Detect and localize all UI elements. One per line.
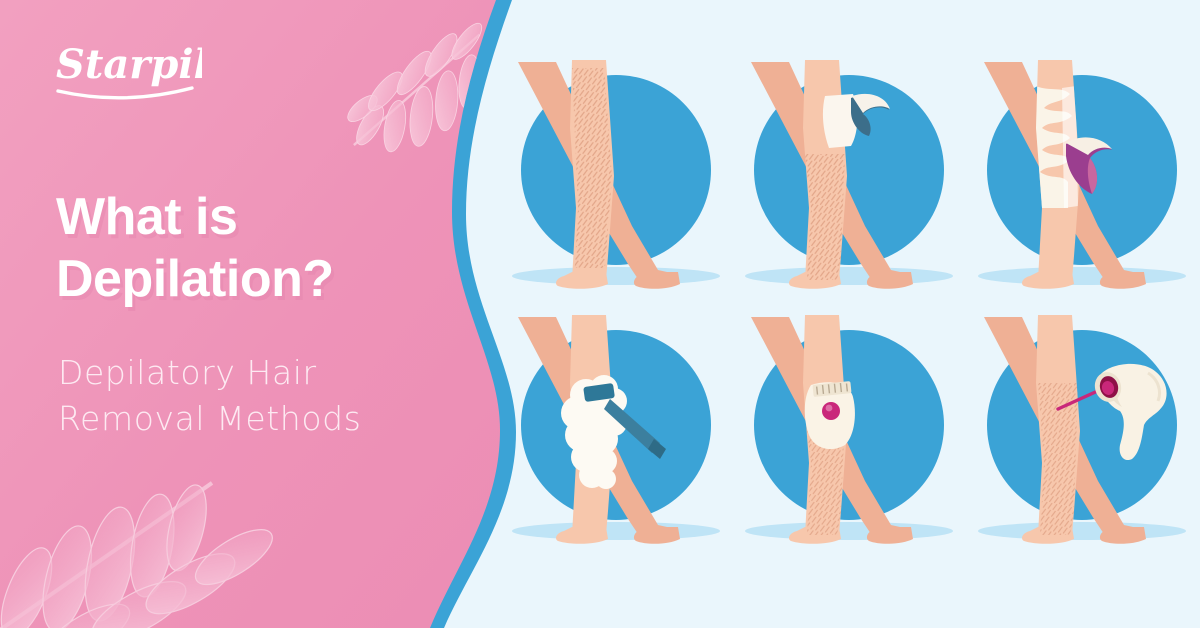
illustration-wax-strip — [733, 58, 966, 313]
illustration-hairy-leg — [500, 58, 733, 313]
illustration-shaving — [500, 313, 733, 568]
razor-foam-icon — [500, 313, 733, 568]
back-foot — [1100, 272, 1146, 289]
back-foot — [1100, 527, 1146, 544]
method-illustration-grid — [500, 58, 1200, 598]
headline-line-1: What is — [56, 186, 456, 248]
illustration-laser — [966, 313, 1199, 568]
promo-banner: Starpil What is Depilation? Depilatory H… — [0, 0, 1200, 628]
back-foot — [867, 527, 913, 544]
ground-shadow — [512, 267, 720, 285]
back-foot — [867, 272, 913, 289]
spatula-cream-icon — [966, 58, 1199, 313]
page-subtitle: Depilatory Hair Removal Methods — [58, 350, 468, 442]
subhead-line-1: Depilatory Hair — [58, 350, 468, 396]
laser-device-icon — [966, 313, 1199, 568]
ground-shadow — [745, 267, 953, 285]
leg-hairy-icon — [500, 58, 733, 313]
epilator-tool — [805, 381, 855, 449]
ground-shadow — [978, 522, 1186, 540]
logo-text: Starpil — [56, 41, 202, 88]
epilator-icon — [733, 313, 966, 568]
ground-shadow — [978, 267, 1186, 285]
back-foot — [634, 272, 680, 289]
ground-shadow — [512, 522, 720, 540]
left-panel: Starpil What is Depilation? Depilatory H… — [0, 0, 470, 628]
headline-line-2: Depilation? — [56, 248, 456, 310]
wax-strip-icon — [733, 58, 966, 313]
starpil-script-wordmark-icon: Starpil — [52, 36, 202, 102]
illustration-depilatory-cream — [966, 58, 1199, 313]
ground-shadow — [745, 522, 953, 540]
illustration-epilator — [733, 313, 966, 568]
page-title: What is Depilation? — [56, 186, 456, 310]
subhead-line-2: Removal Methods — [58, 396, 468, 442]
back-foot — [634, 527, 680, 544]
starpil-logo[interactable]: Starpil — [52, 36, 202, 102]
logo-swoosh-icon — [58, 88, 192, 98]
